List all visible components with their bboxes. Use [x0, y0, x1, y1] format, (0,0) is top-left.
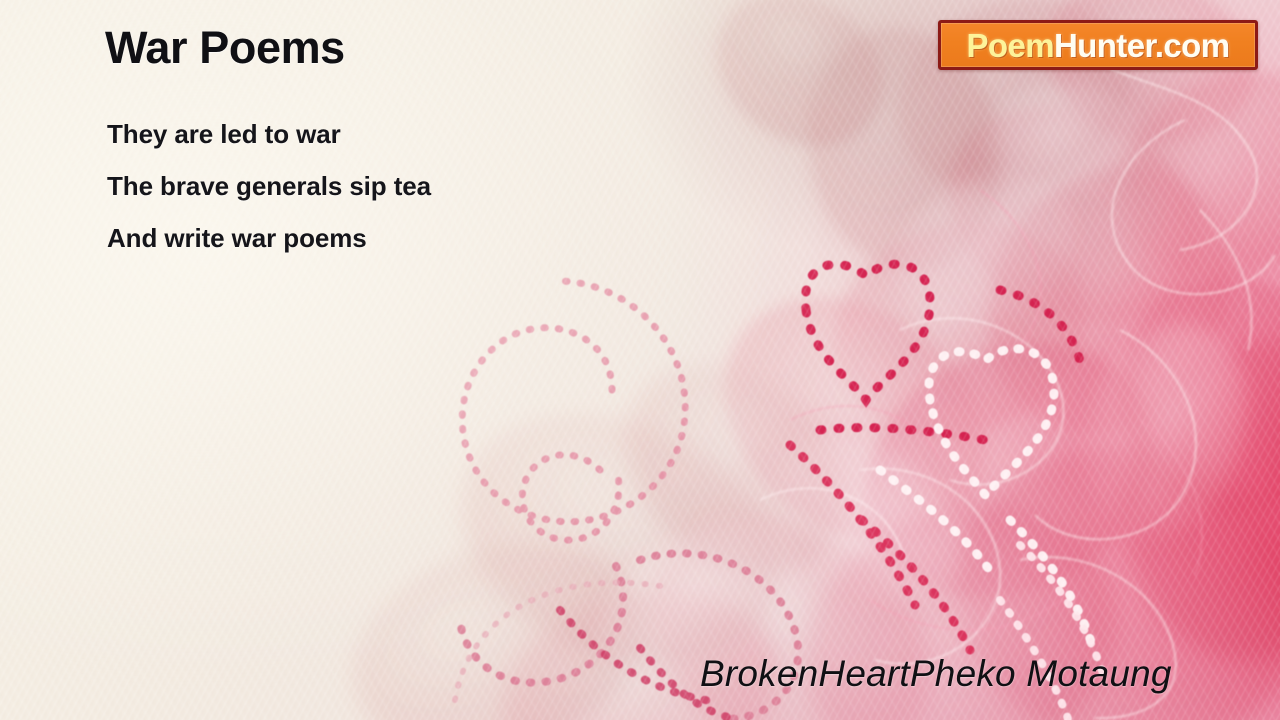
page-title: War Poems: [105, 22, 345, 74]
dot-heart-white: [880, 349, 1092, 645]
poemhunter-logo-badge[interactable]: PoemHunter.com: [938, 20, 1258, 70]
petal-group-mid-right: [677, 125, 1280, 646]
poem-slide-canvas: War Poems They are led to war The brave …: [0, 0, 1280, 720]
poem-line: They are led to war: [107, 108, 747, 160]
pink-thread-group: [790, 190, 1202, 630]
dot-heart-crimson: [805, 264, 1082, 440]
dot-arc-pale-centre: [455, 583, 660, 700]
logo-word-poem: Poem: [966, 27, 1053, 64]
poem-text-block: They are led to war The brave generals s…: [107, 108, 747, 264]
poemhunter-logo-text: PoemHunter.com: [966, 29, 1229, 62]
poem-line: And write war poems: [107, 212, 747, 264]
logo-word-hunter: Hunter.com: [1054, 27, 1230, 64]
white-thread-group: [760, 40, 1275, 718]
dot-trail-crimson-lower: [790, 445, 970, 650]
author-credit: BrokenHeartPheko Motaung: [700, 653, 1172, 695]
dot-swirl-centre-left: [462, 281, 685, 540]
poem-line: The brave generals sip tea: [107, 160, 747, 212]
